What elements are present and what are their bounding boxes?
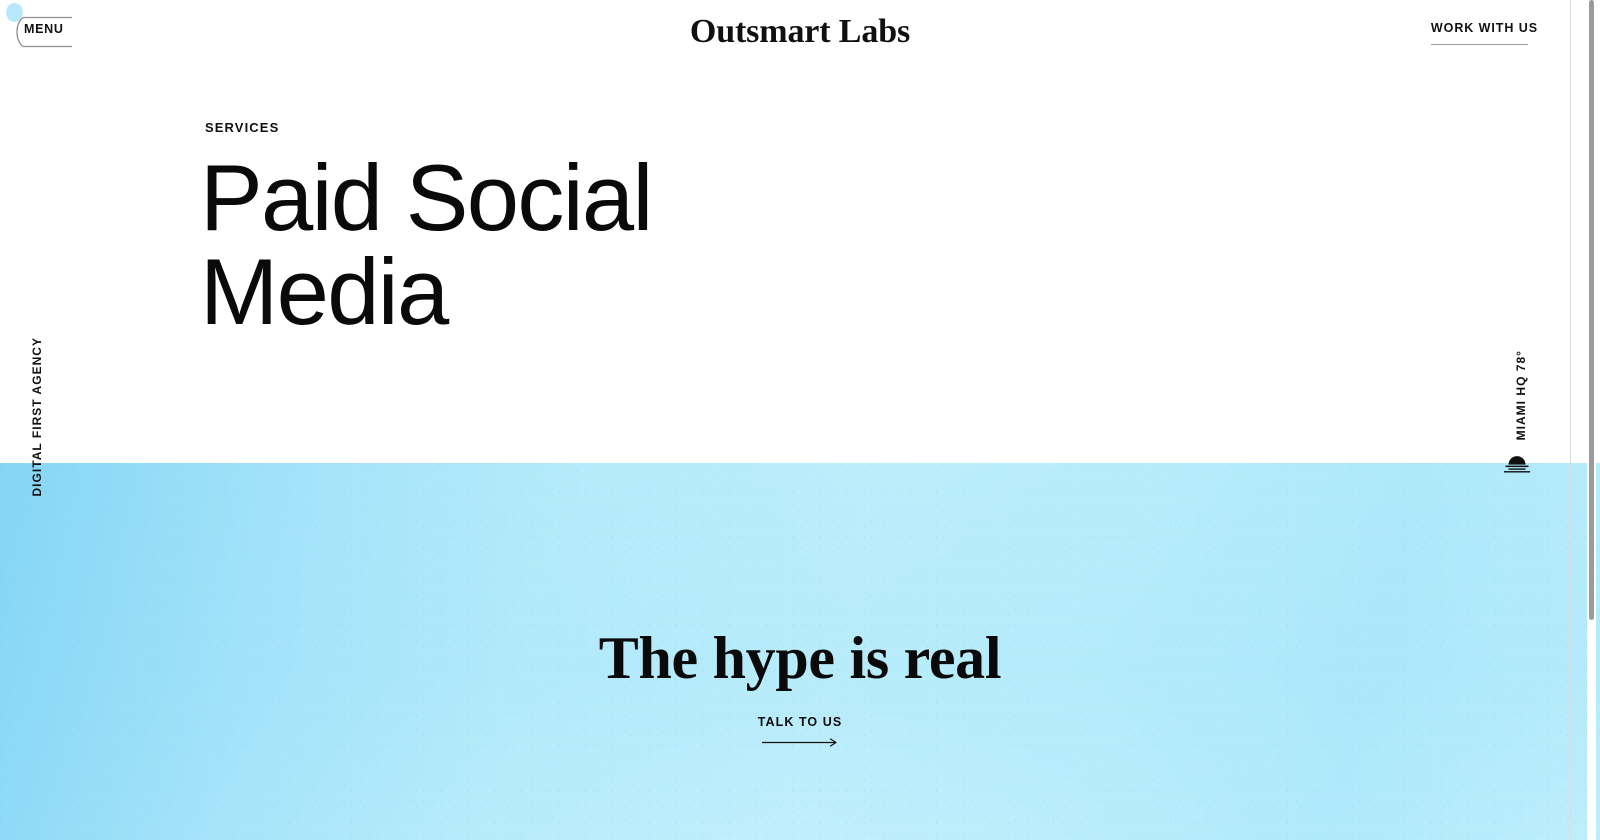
talk-to-us-label: TALK TO US (720, 716, 880, 729)
cta-title: The hype is real (0, 627, 1600, 690)
vertical-label-agency: DIGITAL FIRST AGENCY (30, 337, 44, 497)
sunset-icon (1502, 452, 1532, 474)
page-title-line-2: Media (200, 246, 652, 338)
top-navigation-bar: MENU Outsmart Labs WORK WITH US (0, 0, 1600, 70)
work-with-us-underline (1431, 44, 1528, 45)
work-with-us-label: WORK WITH US (1431, 22, 1538, 35)
work-with-us-button[interactable]: WORK WITH US (1431, 22, 1538, 45)
page-root: SERVICES Paid Social Media The hype is r… (0, 0, 1600, 840)
scrollbar-thumb[interactable] (1589, 0, 1594, 620)
arrow-right-icon (762, 738, 838, 748)
brand-logo[interactable]: Outsmart Labs (0, 12, 1600, 53)
page-eyebrow-services: SERVICES (205, 120, 279, 135)
page-title: Paid Social Media (200, 152, 652, 338)
vertical-label-location: MIAMI HQ 78° (1514, 350, 1528, 440)
cta-blue-section: The hype is real TALK TO US (0, 463, 1600, 840)
page-title-line-1: Paid Social (200, 152, 652, 244)
scrollbar-divider-line (1570, 0, 1571, 840)
talk-to-us-button[interactable]: TALK TO US (720, 716, 880, 748)
